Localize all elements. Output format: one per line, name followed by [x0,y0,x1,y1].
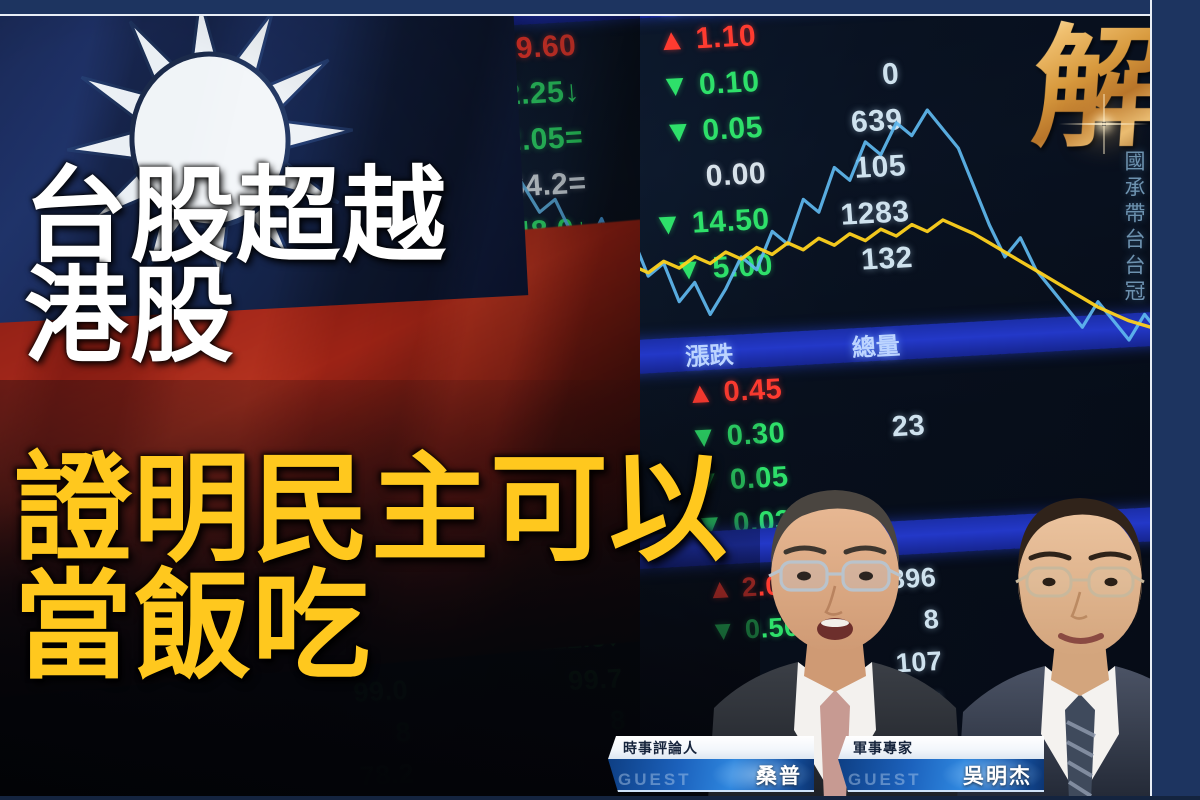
frame-bottom-border [0,796,1200,800]
ticker-cell-volume [782,382,922,390]
nameplate-role-1: 時事評論人 [608,736,814,759]
subheadline-line-1: 證明民主可以 [14,452,728,569]
ticker-cell-volume: 639 [762,103,904,144]
headline-line-2: 港股 [24,268,448,368]
ticker-vertical-labels: 國承帶台台冠 [1118,150,1148,306]
subheadline-line-2: 當飯吃 [14,569,728,686]
nameplate-guest-tag-2: GUEST [848,770,922,790]
nameplate-guest-2: 軍事專家 GUEST 吳明杰 [838,736,1044,792]
frame-right-border [1150,0,1200,800]
nameplate-guest-name-2: 吳明杰 [963,760,1032,790]
ticker-col-vol-2: 總量 [804,323,946,365]
nameplate-name-row-2: GUEST 吳明杰 [838,759,1044,792]
subheadline-block: 證明民主可以 當飯吃 [14,452,728,686]
headline-block: 台股超越 港股 [24,168,448,368]
nameplate-guest-1: 時事評論人 GUEST 桑普 [608,736,814,792]
ticker-cell-volume: 105 [765,149,907,190]
ticker-cell-volume: 0 [758,57,900,98]
ticker-cell-volume: 1283 [768,195,910,236]
nameplate-guest-name-1: 桑普 [756,760,802,790]
news-thumbnail: 買進 賣出 成交 漲跌 19.3019.5019.60▲ 1.1022.2522… [0,0,1200,800]
nameplate-role-2: 軍事專家 [838,736,1044,759]
logo-lens-flare-icon [1102,122,1106,126]
ticker-cell-volume [756,29,896,37]
nameplate-name-row-1: GUEST 桑普 [608,759,814,792]
ticker-cell-volume: 132 [772,241,914,282]
headline-line-1: 台股超越 [24,168,448,268]
frame-top-border [0,0,1200,16]
nameplate-guest-tag-1: GUEST [618,770,692,790]
